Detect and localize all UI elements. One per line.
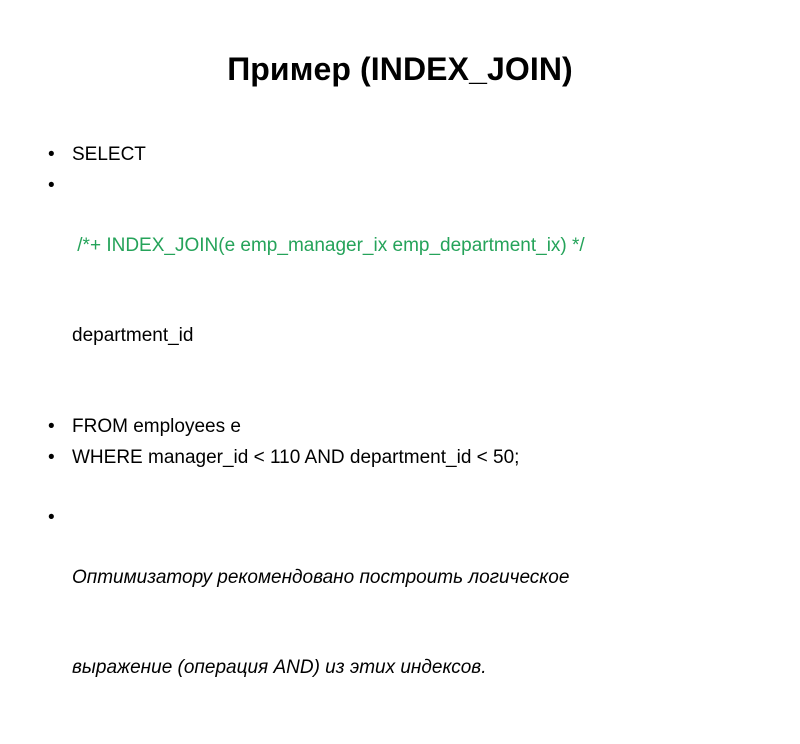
list-item: • /*+ INDEX_JOIN(e emp_manager_ix emp_de… bbox=[48, 171, 728, 411]
note-line-2: выражение (операция AND) из этих индексо… bbox=[72, 653, 728, 683]
list-item: • Оптимизатору рекомендовано построить л… bbox=[48, 503, 728, 743]
bullet-icon: • bbox=[48, 503, 72, 533]
slide-body: • SELECT • /*+ INDEX_JOIN(e emp_manager_… bbox=[48, 140, 728, 744]
page-title: Пример (INDEX_JOIN) bbox=[0, 50, 800, 88]
sql-where-clause: WHERE manager_id < 110 AND department_id… bbox=[72, 443, 728, 473]
optimizer-hint-text: /*+ INDEX_JOIN(e emp_manager_ix emp_depa… bbox=[72, 231, 728, 261]
sql-select-clause: SELECT bbox=[72, 140, 728, 170]
sql-hint-clause: /*+ INDEX_JOIN(e emp_manager_ix emp_depa… bbox=[72, 171, 728, 411]
note-line-1: Оптимизатору рекомендовано построить лог… bbox=[72, 563, 728, 593]
list-item: • SELECT bbox=[48, 140, 728, 170]
slide: Пример (INDEX_JOIN) • SELECT • /*+ INDEX… bbox=[0, 0, 800, 600]
select-column-name: department_id bbox=[72, 321, 728, 351]
explanatory-note: Оптимизатору рекомендовано построить лог… bbox=[72, 503, 728, 743]
list-item: • WHERE manager_id < 110 AND department_… bbox=[48, 443, 728, 473]
bullet-icon: • bbox=[48, 140, 72, 170]
bullet-icon: • bbox=[48, 443, 72, 473]
list-item: • FROM employees e bbox=[48, 412, 728, 442]
bullet-icon: • bbox=[48, 412, 72, 442]
bullet-icon: • bbox=[48, 171, 72, 201]
sql-from-clause: FROM employees e bbox=[72, 412, 728, 442]
